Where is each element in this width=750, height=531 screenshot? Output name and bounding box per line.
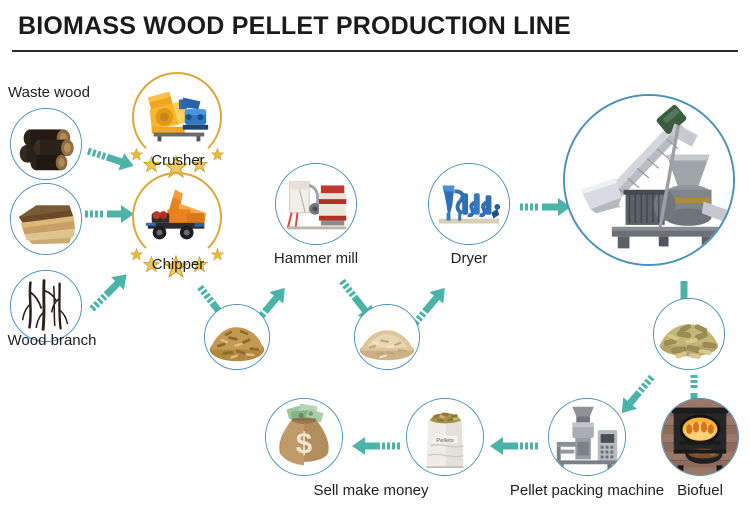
node-crusher: [139, 79, 215, 155]
svg-text:Pellets: Pellets: [436, 438, 454, 444]
split-firewood-icon: [11, 184, 81, 254]
title-divider: [12, 50, 738, 52]
arrow-pelletbag-to-moneybag: [348, 437, 400, 455]
machine-label-chipper: Chipper: [152, 256, 205, 273]
arrow-wastewood-to-crusher: [85, 142, 136, 174]
hammer-mill-icon: [276, 164, 356, 244]
node-sawdust: [354, 304, 420, 370]
crusher-star-left-outer: [130, 148, 143, 161]
machine-label-hammer-mill: Hammer mill: [274, 250, 358, 267]
pellet-bag-icon: Pellets: [407, 399, 483, 475]
svg-text:$: $: [296, 429, 312, 461]
crusher-star-right-outer: [211, 148, 224, 161]
node-wood-chips: [204, 304, 270, 370]
node-pellet-mill: [563, 94, 735, 266]
packing-machine-icon: [549, 399, 625, 475]
node-dryer: [428, 163, 510, 245]
wood-branches-icon: [11, 271, 81, 341]
machine-label-dryer: Dryer: [451, 250, 488, 267]
input-label-wood-branch: Wood branch: [8, 332, 97, 349]
arrow-firewood-to-chipper: [85, 205, 135, 223]
output-label-biofuel: Biofuel: [677, 482, 723, 499]
dryer-icon: [429, 164, 509, 244]
wood-pellets-icon: [654, 299, 724, 369]
chipper-star-right-outer: [211, 248, 224, 261]
chipper-star-left-outer: [130, 248, 143, 261]
output-label-money-bag: Sell make money: [313, 482, 428, 499]
diagram-canvas: BIOMASS WOOD PELLET PRODUCTION LINE: [0, 0, 750, 531]
crusher-machine-icon: [140, 80, 214, 154]
node-biofuel: [661, 398, 739, 476]
sawdust-icon: [355, 305, 419, 369]
node-firewood: [10, 183, 82, 255]
node-chipper: [139, 179, 215, 255]
node-pellet-bag: Pellets: [406, 398, 484, 476]
chipper-machine-icon: [140, 180, 214, 254]
pellet-mill-icon: [565, 96, 733, 264]
arrow-packing-to-pelletbag: [486, 437, 538, 455]
machine-label-crusher: Crusher: [151, 152, 204, 169]
wood-stove-icon: [662, 399, 738, 475]
input-label-waste-wood: Waste wood: [8, 84, 90, 101]
arrow-woodbranch-to-chipper: [86, 266, 135, 315]
money-bag-icon: $: [266, 399, 342, 475]
node-money-bag: $: [265, 398, 343, 476]
node-packing-machine: [548, 398, 626, 476]
node-hammer-mill: [275, 163, 357, 245]
output-label-packing-machine: Pellet packing machine: [510, 482, 664, 499]
page-title: BIOMASS WOOD PELLET PRODUCTION LINE: [18, 12, 571, 41]
wood-chips-icon: [205, 305, 269, 369]
node-pellets: [653, 298, 725, 370]
node-waste-wood: [10, 108, 82, 180]
stacked-logs-icon: [11, 109, 81, 179]
